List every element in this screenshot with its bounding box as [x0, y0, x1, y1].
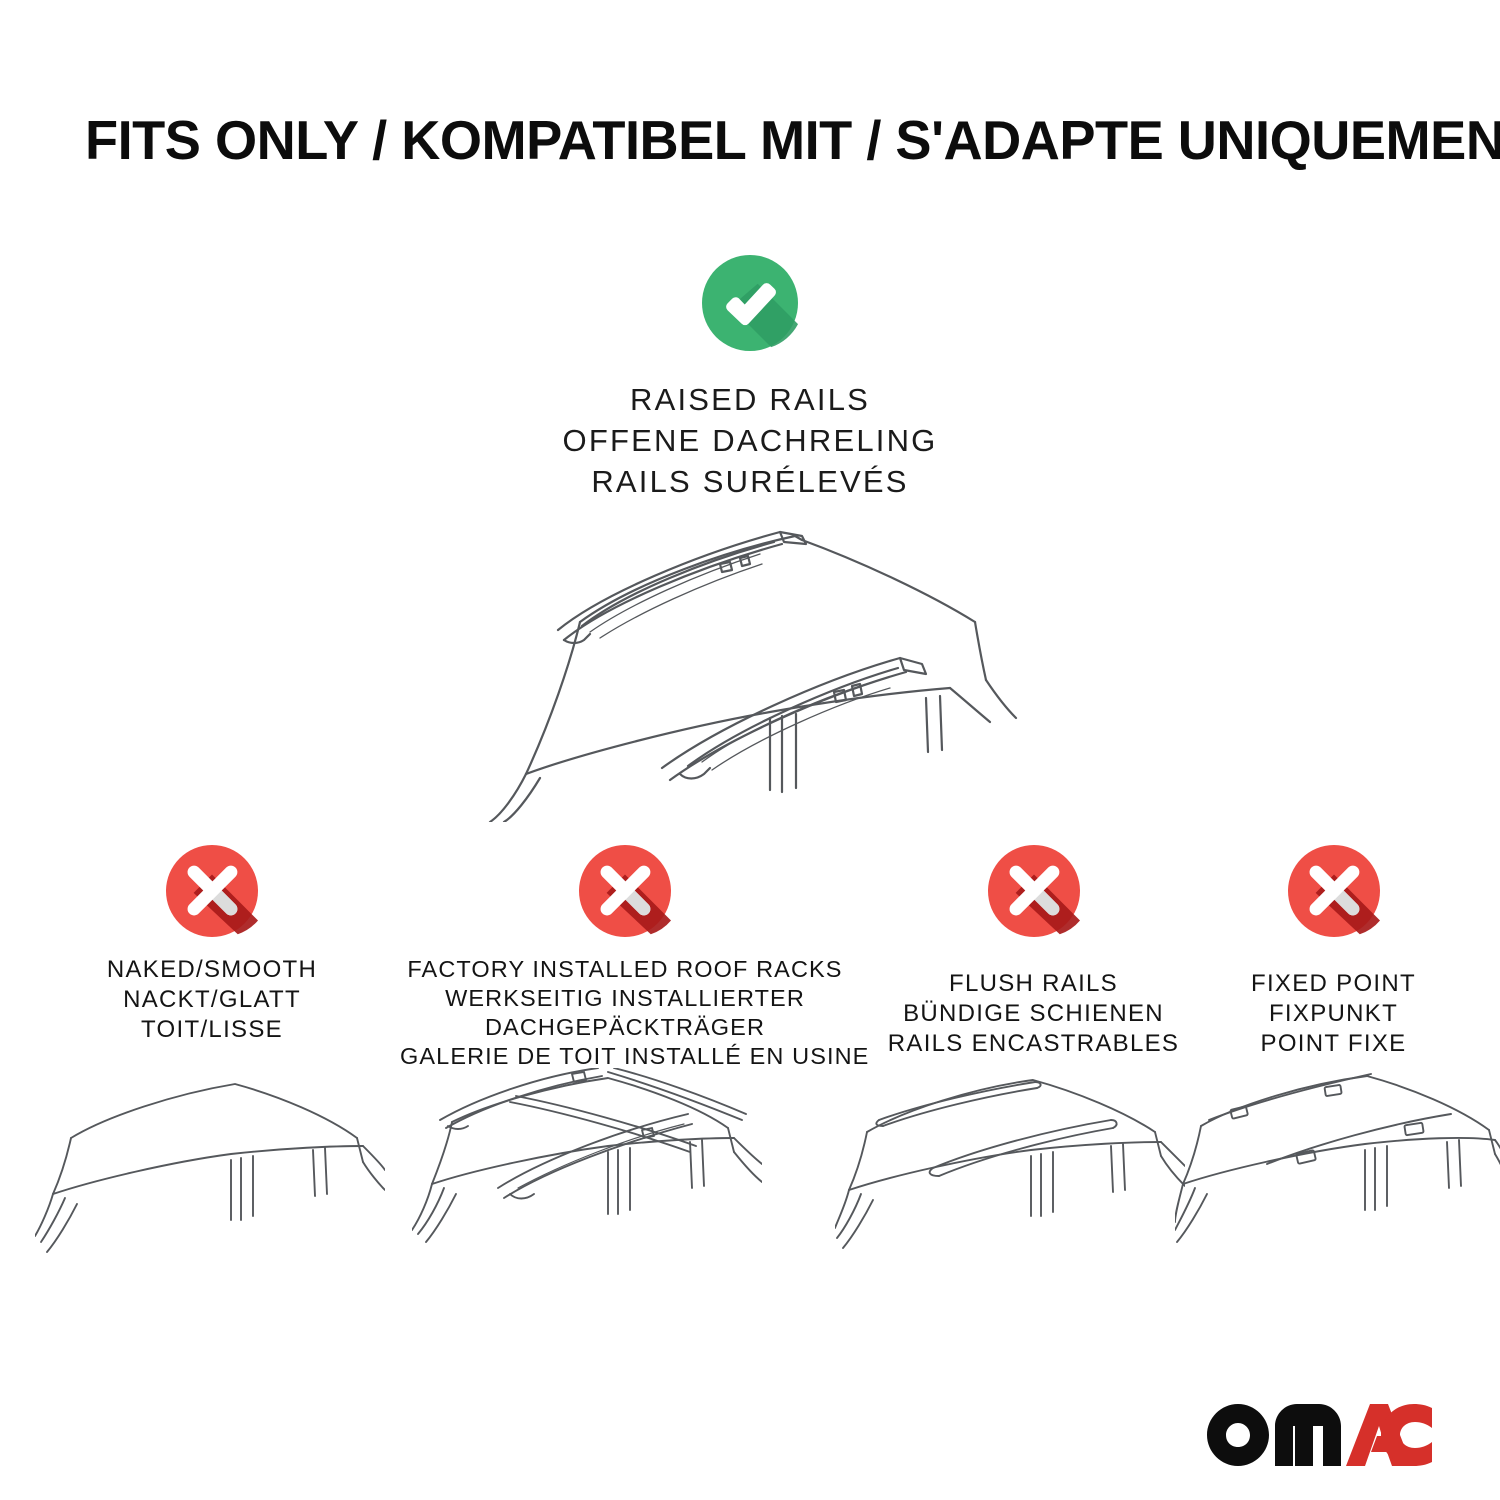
label-line: NACKT/GLATT [30, 985, 394, 1015]
page-title: FITS ONLY / KOMPATIBEL MIT / S'ADAPTE UN… [85, 108, 1405, 172]
red-cross-circle-icon [166, 845, 258, 937]
car-roof-with-raised-rails-illustration [0, 522, 1500, 827]
green-check-circle-icon [702, 255, 798, 351]
label-line: RAILS ENCASTRABLES [855, 1029, 1212, 1059]
compatible-labels: RAISED RAILS OFFENE DACHRELING RAILS SUR… [0, 379, 1500, 502]
incompatible-labels: FACTORY INSTALLED ROOF RACKS WERKSEITIG … [400, 955, 850, 1071]
logo-letter-m [1275, 1404, 1341, 1466]
compatible-label-fr: RAILS SURÉLEVÉS [0, 461, 1500, 502]
red-cross-circle-icon [988, 845, 1080, 937]
label-line: WERKSEITIG INSTALLIERTER [400, 984, 850, 1013]
compatible-label-en: RAISED RAILS [0, 379, 1500, 420]
incompatible-labels: NAKED/SMOOTH NACKT/GLATT TOIT/LISSE [30, 955, 394, 1045]
label-line: POINT FIXE [1215, 1029, 1452, 1059]
label-line: FLUSH RAILS [855, 969, 1212, 999]
car-roof-bare-illustration [35, 1068, 385, 1308]
incompatible-item-factory-roof-racks: FACTORY INSTALLED ROOF RACKS WERKSEITIG … [400, 845, 850, 1071]
label-line: FIXPUNKT [1215, 999, 1452, 1029]
label-line: BÜNDIGE SCHIENEN [855, 999, 1212, 1029]
compatible-section: RAISED RAILS OFFENE DACHRELING RAILS SUR… [0, 255, 1500, 827]
label-line: FACTORY INSTALLED ROOF RACKS [400, 955, 850, 984]
label-line: TOIT/LISSE [30, 1015, 394, 1045]
omac-logo [1207, 1402, 1432, 1468]
label-line: DACHGEPÄCKTRÄGER [400, 1013, 850, 1042]
logo-letter-o [1207, 1404, 1269, 1466]
red-cross-circle-icon [1288, 845, 1380, 937]
compatible-label-de: OFFENE DACHRELING [0, 420, 1500, 461]
car-roof-with-fixed-points-illustration [1175, 1068, 1500, 1308]
label-line: GALERIE DE TOIT INSTALLÉ EN USINE [400, 1042, 850, 1071]
incompatible-item-naked-smooth: NAKED/SMOOTH NACKT/GLATT TOIT/LISSE [30, 845, 394, 1045]
label-line: FIXED POINT [1215, 969, 1452, 999]
incompatible-item-flush-rails: FLUSH RAILS BÜNDIGE SCHIENEN RAILS ENCAS… [855, 845, 1212, 1059]
incompatible-illustrations [0, 1068, 1500, 1308]
incompatible-item-fixed-point: FIXED POINT FIXPUNKT POINT FIXE [1215, 845, 1452, 1059]
label-line: NAKED/SMOOTH [30, 955, 394, 985]
car-roof-with-factory-crossbars-illustration [412, 1068, 762, 1308]
red-cross-circle-icon [579, 845, 671, 937]
incompatible-labels: FLUSH RAILS BÜNDIGE SCHIENEN RAILS ENCAS… [855, 969, 1212, 1059]
incompatible-labels: FIXED POINT FIXPUNKT POINT FIXE [1215, 969, 1452, 1059]
car-roof-with-flush-rails-illustration [835, 1068, 1185, 1308]
